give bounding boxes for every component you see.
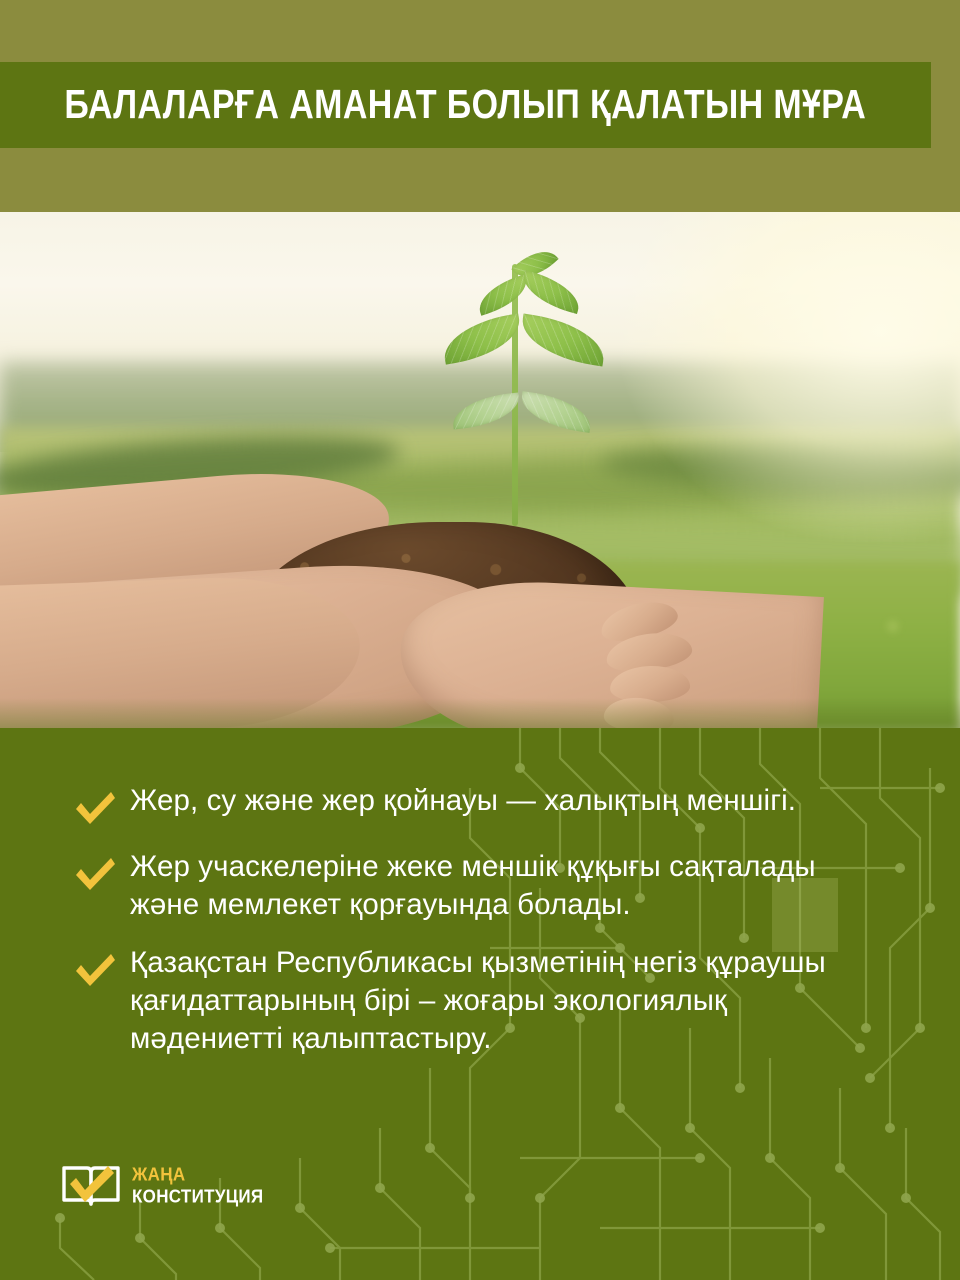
check-icon: [72, 950, 118, 990]
list-item-label: Жер учаскелеріне жеке меншік құқығы сақт…: [130, 848, 870, 924]
page-title: БАЛАЛАРҒА АМАНАТ БОЛЫП ҚАЛАТЫН МҰРА: [65, 82, 867, 128]
plant-leaf: [517, 270, 584, 314]
logo-line-2: КОНСТИТУЦИЯ: [132, 1187, 263, 1206]
title-bar: БАЛАЛАРҒА АМАНАТ БОЛЫП ҚАЛАТЫН МҰРА: [0, 62, 931, 148]
logo-wordmark: ЖАҢА КОНСТИТУЦИЯ: [132, 1166, 263, 1205]
bullet-list: Жер, су және жер қойнауы — халықтың менш…: [72, 782, 892, 1078]
poster-root: БАЛАЛАРҒА АМАНАТ БОЛЫП ҚАЛАТЫН МҰРА: [0, 0, 960, 1280]
header-band: БАЛАЛАРҒА АМАНАТ БОЛЫП ҚАЛАТЫН МҰРА: [0, 0, 960, 212]
plant-leaf: [518, 391, 594, 433]
logo: ЖАҢА КОНСТИТУЦИЯ: [60, 1158, 263, 1212]
logo-line-1: ЖАҢА: [132, 1165, 263, 1184]
list-item-label: Қазақстан Республикасы қызметінің негіз …: [130, 944, 870, 1058]
hero-photo: [0, 212, 960, 728]
photo-bottom-fade: [0, 698, 960, 728]
check-icon: [72, 788, 118, 828]
seedling-plant-icon: [470, 244, 700, 544]
plant-leaf: [517, 314, 608, 367]
book-check-icon: [60, 1158, 122, 1212]
list-item-label: Жер, су және жер қойнауы — халықтың менш…: [130, 782, 796, 820]
list-item: Жер, су және жер қойнауы — халықтың менш…: [72, 782, 892, 828]
list-item: Қазақстан Республикасы қызметінің негіз …: [72, 944, 892, 1058]
check-icon: [72, 854, 118, 894]
content-panel: Жер, су және жер қойнауы — халықтың менш…: [0, 728, 960, 1280]
list-item: Жер учаскелеріне жеке меншік құқығы сақт…: [72, 848, 892, 924]
